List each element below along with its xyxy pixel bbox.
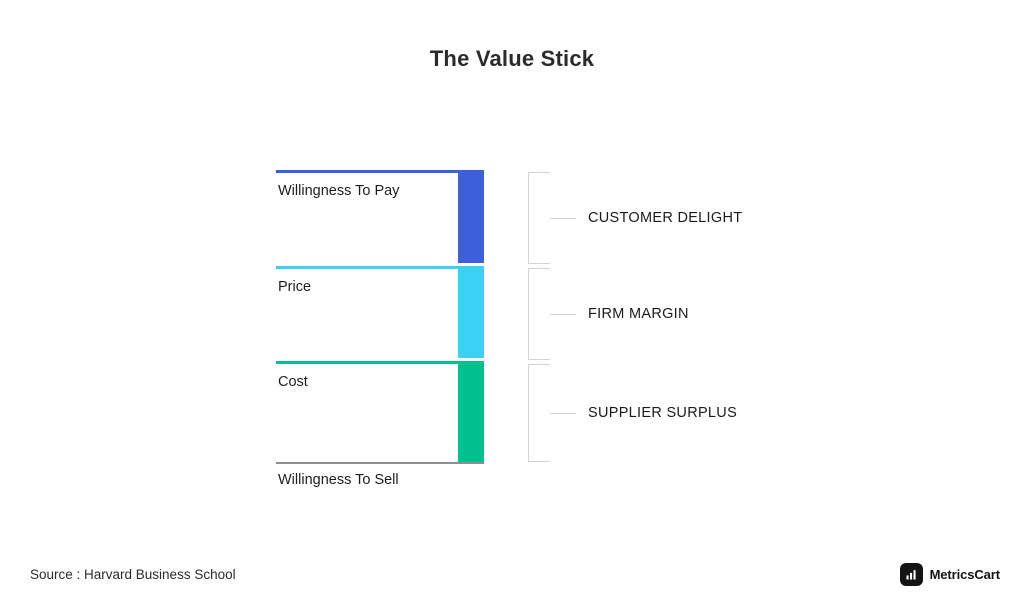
annotation-brackets: CUSTOMER DELIGHT FIRM MARGIN SUPPLIER SU…: [528, 172, 748, 462]
segment-block-cost: [458, 361, 484, 462]
bracket-group-customer-delight: CUSTOMER DELIGHT: [528, 172, 748, 264]
segment-label-willingness-to-pay: Willingness To Pay: [278, 183, 399, 199]
source-note: Source : Harvard Business School: [30, 567, 236, 582]
baseline-rule: [276, 462, 484, 464]
segment-price: Price: [276, 266, 484, 358]
bracket-icon: [528, 364, 550, 462]
bracket-label-supplier-surplus: SUPPLIER SURPLUS: [588, 405, 737, 421]
brand-logo: MetricsCart: [900, 563, 1000, 586]
segment-willingness-to-pay: Willingness To Pay: [276, 170, 484, 263]
segment-label-price: Price: [278, 279, 311, 295]
value-stick-bar: Willingness To Pay Price Cost Willingnes…: [276, 170, 484, 462]
bracket-tick: [550, 218, 576, 219]
bracket-label-firm-margin: FIRM MARGIN: [588, 306, 689, 322]
bracket-group-firm-margin: FIRM MARGIN: [528, 268, 748, 360]
segment-cost: Cost: [276, 361, 484, 462]
bracket-icon: [528, 268, 550, 360]
segment-rule-cost: [276, 361, 484, 364]
baseline-label: Willingness To Sell: [278, 472, 399, 488]
bracket-group-supplier-surplus: SUPPLIER SURPLUS: [528, 364, 748, 462]
bracket-label-customer-delight: CUSTOMER DELIGHT: [588, 210, 742, 226]
segment-rule-willingness-to-pay: [276, 170, 484, 173]
value-stick-figure: Willingness To Pay Price Cost Willingnes…: [276, 170, 746, 500]
bracket-tick: [550, 413, 576, 414]
segment-block-willingness-to-pay: [458, 170, 484, 263]
segment-label-cost: Cost: [278, 374, 308, 390]
page-title: The Value Stick: [0, 46, 1024, 72]
bracket-icon: [528, 172, 550, 264]
brand-name: MetricsCart: [930, 567, 1000, 582]
segment-rule-price: [276, 266, 484, 269]
bar-chart-icon: [900, 563, 923, 586]
bracket-tick: [550, 314, 576, 315]
segment-block-price: [458, 266, 484, 358]
